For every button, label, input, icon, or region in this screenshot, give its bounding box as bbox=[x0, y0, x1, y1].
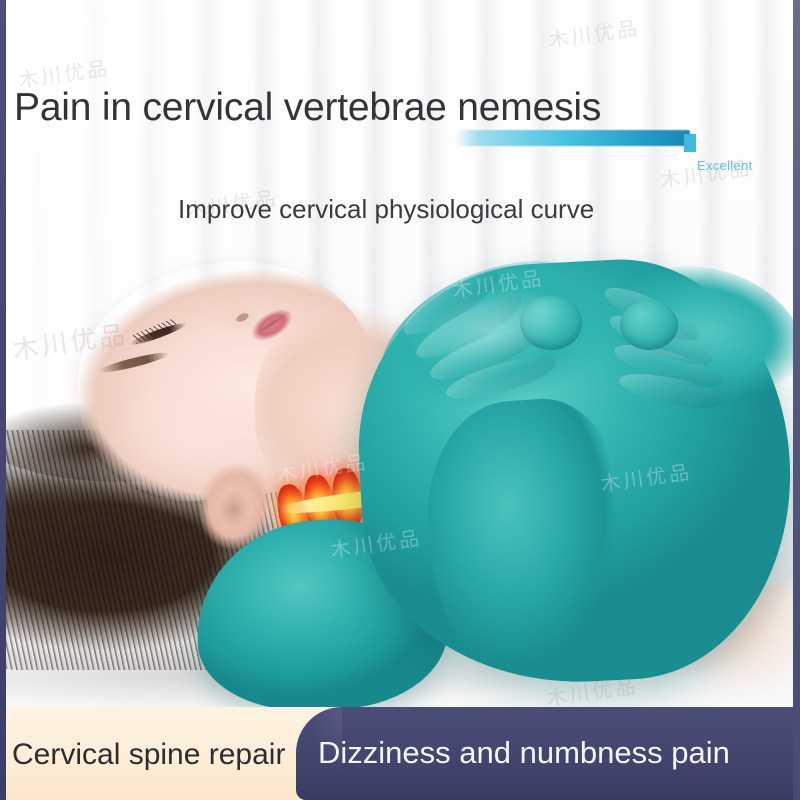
excellent-badge: Excellent bbox=[697, 158, 752, 173]
right-edge-strip bbox=[793, 0, 800, 800]
accent-bar-cap bbox=[684, 134, 696, 152]
banner-right-label: Dizziness and numbness pain bbox=[318, 735, 730, 771]
product-advertisement: 木川优品 木川优品 木川优品 木川优品 木川优品 木川优品 木川优品 木川优品 … bbox=[0, 0, 800, 800]
device-acupressure-knob bbox=[620, 300, 678, 350]
accent-bar bbox=[455, 130, 690, 146]
subheadline: Improve cervical physiological curve bbox=[178, 194, 594, 225]
headline: Pain in cervical vertebrae nemesis bbox=[14, 86, 601, 130]
left-edge-strip bbox=[0, 0, 6, 800]
banner-left-label: Cervical spine repair bbox=[12, 738, 285, 772]
